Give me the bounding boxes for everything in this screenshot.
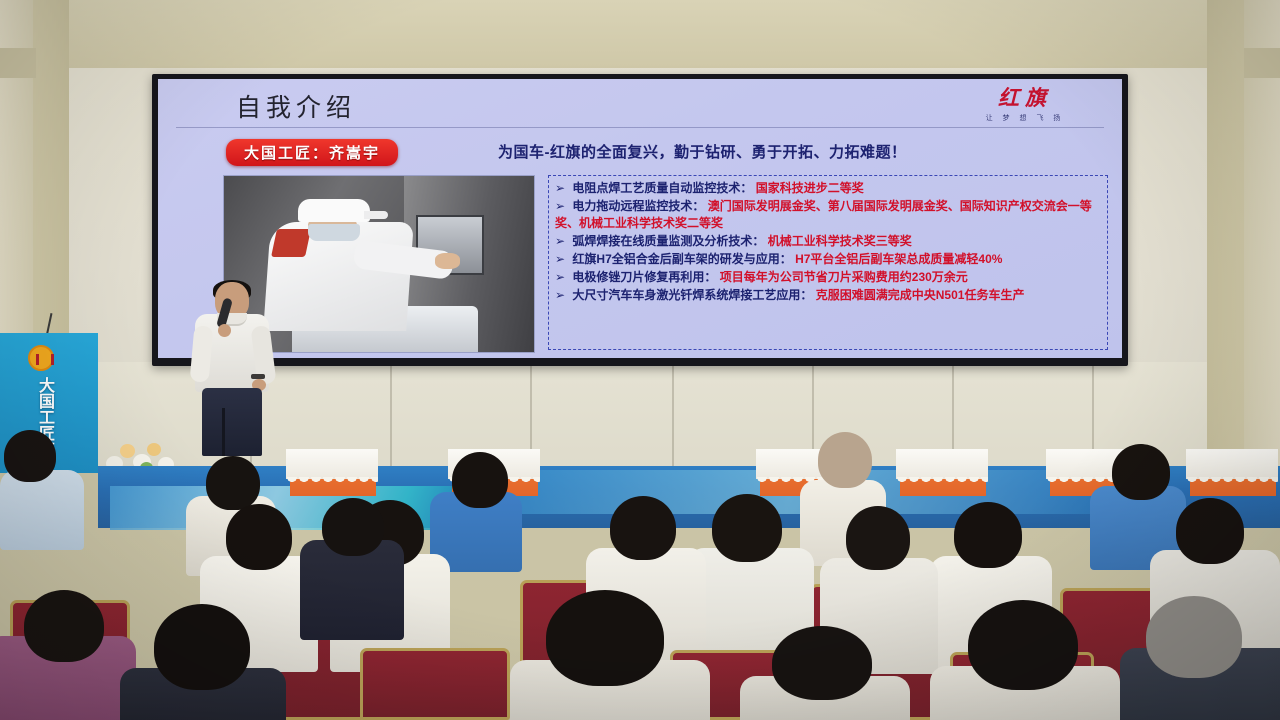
wall-seam xyxy=(672,362,674,470)
wall-trim-band-left xyxy=(0,48,36,78)
audience-head xyxy=(1112,444,1170,500)
audience-head xyxy=(610,496,676,560)
presenter-leg-gap xyxy=(222,408,225,456)
conference-room-scene: 自我介绍 红旗 让 梦 想 飞 扬 大国工匠：齐嵩宇 为国车-红旗的全面复兴，勤… xyxy=(0,0,1280,720)
bullet-award: 克服困难圆满完成中央N501任务车生产 xyxy=(816,288,1025,302)
slide-title: 自我介绍 xyxy=(236,88,356,124)
bullet-award: H7平台全铝后副车架总成质量减轻40% xyxy=(795,252,1002,266)
brand-wordmark: 红旗 xyxy=(960,87,1090,110)
audience-head xyxy=(546,590,664,686)
audience-head xyxy=(712,494,782,562)
bullet-lead: 红旗H7全铝合金后副车架的研发与应用： xyxy=(572,252,791,266)
bullet-arrow-icon: ➢ xyxy=(555,199,565,213)
audience-head-ponytail xyxy=(846,506,910,570)
audience-head xyxy=(968,600,1078,690)
photo-worker-hand xyxy=(435,253,460,269)
craftsman-name-badge: 大国工匠：齐嵩宇 xyxy=(226,139,398,166)
flower xyxy=(120,444,135,458)
table-lace-runner xyxy=(1186,449,1278,479)
bullet-lead: 电阻点焊工艺质量自动监控技术： xyxy=(572,181,752,195)
photo-uniform-stripe xyxy=(271,229,311,257)
audience-chair xyxy=(360,648,510,720)
audience-head xyxy=(226,504,292,570)
bullet-lead: 电力拖动远程监控技术： xyxy=(572,199,704,213)
flower xyxy=(147,443,161,456)
bullet-lead: 弧焊焊接在线质量监测及分析技术： xyxy=(572,234,764,248)
audience-head xyxy=(4,430,56,482)
bullet-lead: 大尺寸汽车车身激光钎焊系统焊接工艺应用： xyxy=(572,288,812,302)
achievement-list: ➢ 电阻点焊工艺质量自动监控技术： 国家科技进步二等奖 ➢ 电力拖动远程监控技术… xyxy=(548,175,1108,350)
audience-torso xyxy=(0,470,84,550)
hongqi-logo: 红旗 让 梦 想 飞 扬 xyxy=(960,87,1090,123)
audience-head-bald xyxy=(818,432,872,488)
slide-headline: 为国车-红旗的全面复兴，勤于钻研、勇于开拓、力拓难题！ xyxy=(498,141,907,162)
audience-head xyxy=(154,604,250,690)
presenter-trousers xyxy=(202,388,262,456)
table-lace-runner xyxy=(896,449,988,479)
list-item: ➢ 红旗H7全铝合金后副车架的研发与应用： H7平台全铝后副车架总成质量减轻40… xyxy=(555,251,1101,268)
brand-tagline: 让 梦 想 飞 扬 xyxy=(960,113,1090,123)
photo-worker-cap xyxy=(298,199,369,222)
bullet-award: 项目每年为公司节省刀片采购费用约230万余元 xyxy=(720,270,968,284)
list-item: ➢ 电阻点焊工艺质量自动监控技术： 国家科技进步二等奖 xyxy=(555,180,1101,197)
bullet-award: 国家科技进步二等奖 xyxy=(756,181,864,195)
bullet-arrow-icon: ➢ xyxy=(555,270,565,284)
bullet-lead: 电极修锉刀片修复再利用： xyxy=(572,270,716,284)
table-lace-runner xyxy=(286,449,378,479)
audience-head xyxy=(452,452,508,508)
bullet-arrow-icon: ➢ xyxy=(555,181,565,195)
bullet-arrow-icon: ➢ xyxy=(555,288,565,302)
list-item: ➢ 大尺寸汽车车身激光钎焊系统焊接工艺应用： 克服困难圆满完成中央N501任务车… xyxy=(555,287,1101,304)
audience-head xyxy=(772,626,872,700)
bullet-arrow-icon: ➢ xyxy=(555,234,565,248)
list-item: ➢ 电极修锉刀片修复再利用： 项目每年为公司节省刀片采购费用约230万余元 xyxy=(555,269,1101,286)
slide-canvas: 自我介绍 红旗 让 梦 想 飞 扬 大国工匠：齐嵩宇 为国车-红旗的全面复兴，勤… xyxy=(158,79,1122,358)
presenter xyxy=(193,282,271,454)
list-item: ➢ 电力拖动远程监控技术： 澳门国际发明展金奖、第八届国际发明展金奖、国际知识产… xyxy=(555,198,1101,232)
list-item: ➢ 弧焊焊接在线质量监测及分析技术： 机械工业科学技术奖三等奖 xyxy=(555,233,1101,250)
audience-head xyxy=(322,498,384,556)
union-emblem-icon xyxy=(28,345,54,371)
audience-head xyxy=(954,502,1022,568)
wall-pillar-right xyxy=(1207,0,1247,470)
bullet-arrow-icon: ➢ xyxy=(555,252,565,266)
photo-face-mask xyxy=(308,224,361,242)
title-divider xyxy=(176,127,1104,128)
audience-head-gray xyxy=(1146,596,1242,678)
bullet-award: 机械工业科学技术奖三等奖 xyxy=(768,234,912,248)
audience-head xyxy=(206,456,260,510)
presentation-display: 自我介绍 红旗 让 梦 想 飞 扬 大国工匠：齐嵩宇 为国车-红旗的全面复兴，勤… xyxy=(152,74,1128,366)
wall-trim-band-right xyxy=(1244,48,1280,78)
wall-seam xyxy=(390,362,392,470)
audience-head xyxy=(24,590,104,662)
presenter-hand-holding-mic xyxy=(218,324,231,337)
audience-head xyxy=(1176,498,1244,564)
ceiling-soffit xyxy=(69,0,1207,68)
